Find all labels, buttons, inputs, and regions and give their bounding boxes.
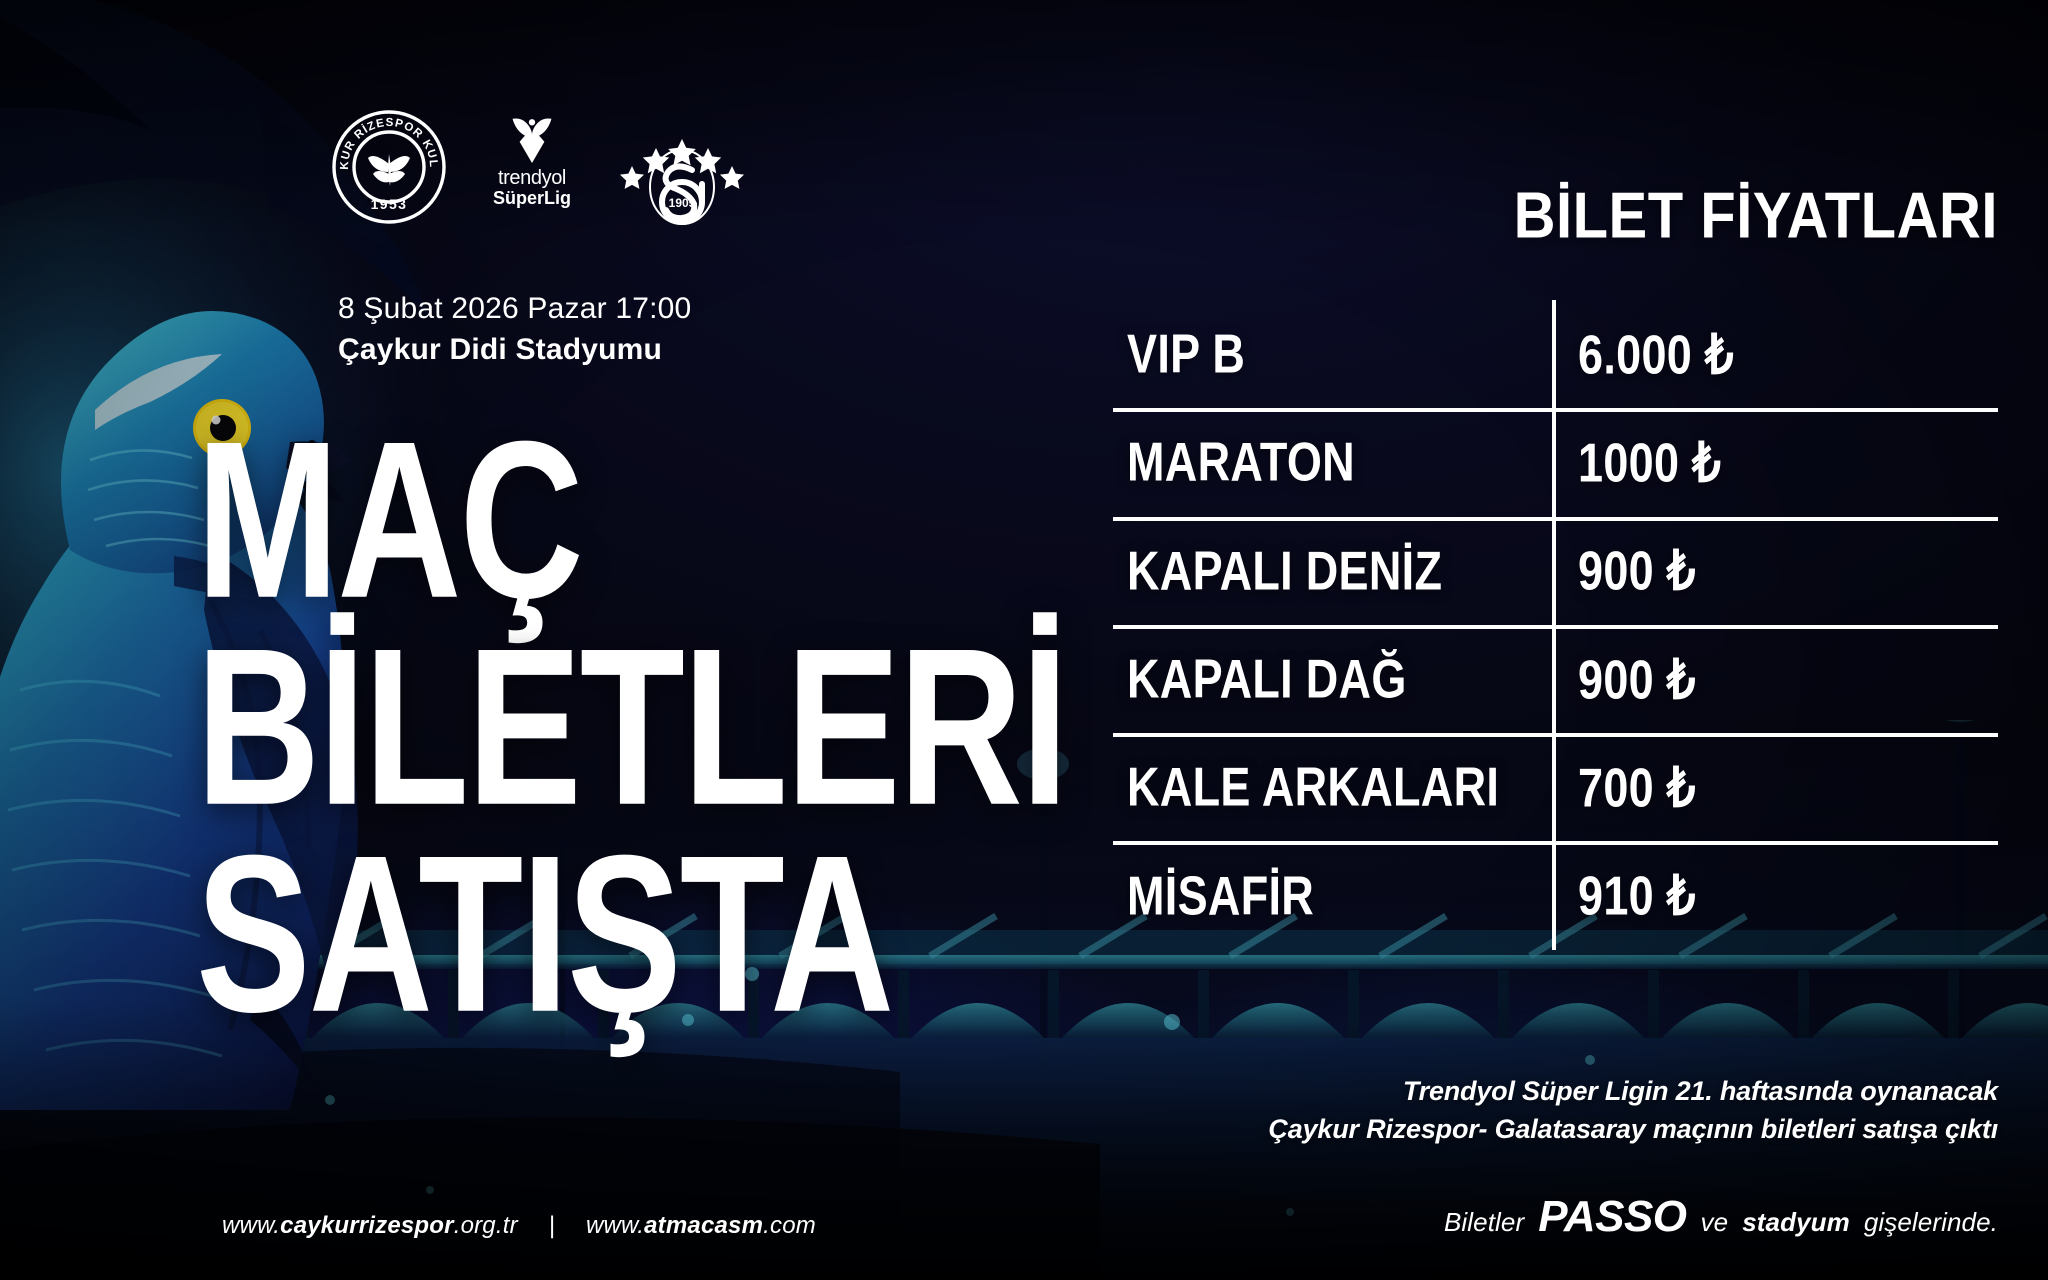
sales-prefix: Biletler [1444, 1207, 1524, 1238]
price-value: 900 ₺ [1552, 538, 1696, 603]
site2-tld: .com [763, 1212, 816, 1239]
website-link-club[interactable]: www.caykurrizespor.org.tr [222, 1212, 518, 1239]
price-category: KALE ARKALARI [1113, 756, 1552, 819]
price-category: KAPALI DENİZ [1113, 539, 1552, 602]
logo-row: ÇAYKUR RİZESPOR KULÜBÜ 1953 t [330, 108, 748, 226]
galatasaray-crest-icon: 1905 [616, 108, 748, 226]
page-title: MAÇ BİLETLERİ SATIŞTA [196, 420, 1067, 988]
sales-bold: stadyum [1742, 1207, 1850, 1238]
svg-text:1953: 1953 [371, 196, 408, 212]
trendyol-wordmark: trendyol [490, 168, 574, 189]
headline-line-1: MAÇ [196, 420, 1067, 621]
price-value: 6.000 ₺ [1552, 322, 1734, 387]
table-row: MARATON 1000 ₺ [1113, 408, 1998, 516]
match-info-block: 8 Şubat 2026 Pazar 17:00 Çaykur Didi Sta… [338, 288, 691, 371]
superlig-wordmark: SüperLig [490, 189, 574, 208]
match-datetime: 8 Şubat 2026 Pazar 17:00 [338, 288, 691, 329]
galatasaray-founded-year: 1905 [669, 196, 696, 210]
price-category: MİSAFİR [1113, 864, 1552, 927]
announcement-text: Trendyol Süper Ligin 21. haftasında oyna… [1268, 1073, 1998, 1149]
caykur-rizespor-crest-icon: ÇAYKUR RİZESPOR KULÜBÜ 1953 [330, 108, 448, 226]
website-link-fanclub[interactable]: www.atmacasm.com [586, 1212, 816, 1239]
headline-line-2: BİLETLERİ [196, 627, 1067, 828]
announcement-line-1: Trendyol Süper Ligin 21. haftasında oyna… [1268, 1073, 1998, 1111]
price-category: MARATON [1113, 431, 1552, 494]
table-row: VIP B 6.000 ₺ [1113, 300, 1998, 408]
price-category: KAPALI DAĞ [1113, 647, 1552, 710]
price-value: 700 ₺ [1552, 755, 1696, 820]
price-value: 1000 ₺ [1552, 430, 1721, 495]
site2-prefix: www. [586, 1212, 644, 1239]
site1-domain: caykurrizespor [280, 1212, 454, 1239]
sales-mid: ve [1701, 1207, 1729, 1238]
table-row: KAPALI DAĞ 900 ₺ [1113, 625, 1998, 733]
price-table: VIP B 6.000 ₺ MARATON 1000 ₺ KAPALI DENİ… [1113, 300, 1998, 950]
match-venue: Çaykur Didi Stadyumu [338, 329, 691, 370]
table-row: KALE ARKALARI 700 ₺ [1113, 733, 1998, 841]
passo-brand: PASSO [1538, 1192, 1686, 1242]
prices-heading: BİLET FİYATLARI [1514, 178, 1998, 253]
announcement-line-2: Çaykur Rizespor- Galatasaray maçının bil… [1268, 1111, 1998, 1149]
trendyol-superlig-icon: trendyol SüperLig [490, 115, 574, 219]
price-value: 910 ₺ [1552, 863, 1696, 928]
sales-suffix: gişelerinde. [1864, 1207, 1998, 1238]
site2-domain: atmacasm [644, 1212, 763, 1239]
website-links: www.caykurrizespor.org.tr | www.atmacasm… [222, 1212, 816, 1240]
ticket-sales-note: Biletler PASSO ve stadyum gişelerinde. [1444, 1192, 1998, 1242]
headline-line-3: SATIŞTA [196, 834, 1067, 1035]
site1-prefix: www. [222, 1212, 280, 1239]
site1-tld: .org.tr [454, 1212, 518, 1239]
table-row: KAPALI DENİZ 900 ₺ [1113, 517, 1998, 625]
table-row: MİSAFİR 910 ₺ [1113, 841, 1998, 949]
poster-root: ÇAYKUR RİZESPOR KULÜBÜ 1953 t [0, 0, 2048, 1280]
price-category: VIP B [1113, 322, 1552, 385]
link-separator: | [525, 1212, 579, 1240]
price-value: 900 ₺ [1552, 647, 1696, 712]
